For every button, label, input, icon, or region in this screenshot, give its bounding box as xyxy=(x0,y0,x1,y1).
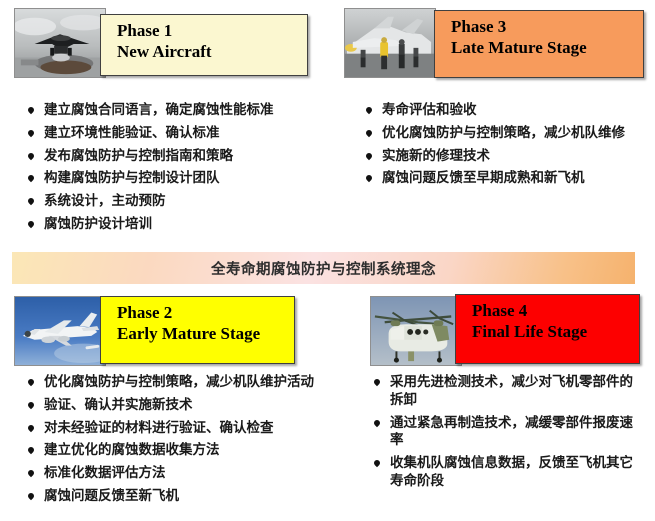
lifecycle-banner-text: 全寿命期腐蚀防护与控制系统理念 xyxy=(211,258,436,279)
list-item: 通过紧急再制造技术，减缓零部件报废速率 xyxy=(368,415,640,451)
phase4-helicopter-image xyxy=(370,296,462,366)
list-item: 优化腐蚀防护与控制策略，减少机队维修 xyxy=(360,125,652,143)
list-item: 建立优化的腐蚀数据收集方法 xyxy=(22,442,338,460)
phase4-quadrant: Phase 4 Final Life Stage 采用先进检测技术，减少对飞机零… xyxy=(340,290,655,521)
phase3-header: Phase 3 Late Mature Stage xyxy=(330,0,655,78)
list-item: 构建腐蚀防护与控制设计团队 xyxy=(22,170,322,188)
phase1-title-line1: Phase 1 xyxy=(117,20,307,41)
phase2-title-line2: Early Mature Stage xyxy=(117,323,294,344)
phase2-quadrant: Phase 2 Early Mature Stage 优化腐蚀防护与控制策略，减… xyxy=(0,290,340,521)
phase2-bullet-list: 优化腐蚀防护与控制策略，减少机队维护活动 验证、确认并实施新技术 对未经验证的材… xyxy=(22,374,338,511)
list-item: 实施新的修理技术 xyxy=(360,148,652,166)
list-item: 对未经验证的材料进行验证、确认检查 xyxy=(22,420,338,438)
lifecycle-corrosion-slide: Phase 1 New Aircraft 建立腐蚀合同语言，确定腐蚀性能标准 建… xyxy=(0,0,655,521)
phase3-title-box: Phase 3 Late Mature Stage xyxy=(434,10,644,78)
phase2-title-box: Phase 2 Early Mature Stage xyxy=(100,296,295,364)
phase1-aircraft-image xyxy=(14,8,106,78)
phase3-title-line2: Late Mature Stage xyxy=(451,37,643,58)
phase1-quadrant: Phase 1 New Aircraft 建立腐蚀合同语言，确定腐蚀性能标准 建… xyxy=(0,0,330,245)
lifecycle-banner: 全寿命期腐蚀防护与控制系统理念 xyxy=(12,252,635,284)
phase4-title-box: Phase 4 Final Life Stage xyxy=(455,294,640,364)
phase3-bullet-list: 寿命评估和验收 优化腐蚀防护与控制策略，减少机队维修 实施新的修理技术 腐蚀问题… xyxy=(360,102,652,193)
phase4-bullet-list: 采用先进检测技术，减少对飞机零部件的拆卸 通过紧急再制造技术，减缓零部件报废速率… xyxy=(368,374,640,496)
list-item: 验证、确认并实施新技术 xyxy=(22,397,338,415)
list-item: 建立腐蚀合同语言，确定腐蚀性能标准 xyxy=(22,102,322,120)
phase3-quadrant: Phase 3 Late Mature Stage 寿命评估和验收 优化腐蚀防护… xyxy=(330,0,655,245)
list-item: 腐蚀防护设计培训 xyxy=(22,216,322,234)
list-item: 系统设计，主动预防 xyxy=(22,193,322,211)
phase3-title-line1: Phase 3 xyxy=(451,16,643,37)
phase2-title-line1: Phase 2 xyxy=(117,302,294,323)
phase1-bullet-list: 建立腐蚀合同语言，确定腐蚀性能标准 建立环境性能验证、确认标准 发布腐蚀防护与控… xyxy=(22,102,322,239)
list-item: 寿命评估和验收 xyxy=(360,102,652,120)
list-item: 收集机队腐蚀信息数据，反馈至飞机其它寿命阶段 xyxy=(368,455,640,491)
phase4-header: Phase 4 Final Life Stage xyxy=(340,290,655,368)
list-item: 优化腐蚀防护与控制策略，减少机队维护活动 xyxy=(22,374,338,392)
phase1-header: Phase 1 New Aircraft xyxy=(0,0,330,78)
phase2-aircraft-image xyxy=(14,296,106,366)
list-item: 腐蚀问题反馈至新飞机 xyxy=(22,488,338,506)
phase1-title-box: Phase 1 New Aircraft xyxy=(100,14,308,76)
phase3-aircraft-image xyxy=(344,8,436,78)
list-item: 发布腐蚀防护与控制指南和策略 xyxy=(22,148,322,166)
phase4-title-line2: Final Life Stage xyxy=(472,321,639,342)
phase2-header: Phase 2 Early Mature Stage xyxy=(0,290,340,368)
list-item: 建立环境性能验证、确认标准 xyxy=(22,125,322,143)
list-item: 腐蚀问题反馈至早期成熟和新飞机 xyxy=(360,170,652,188)
phase1-title-line2: New Aircraft xyxy=(117,41,307,62)
list-item: 采用先进检测技术，减少对飞机零部件的拆卸 xyxy=(368,374,640,410)
list-item: 标准化数据评估方法 xyxy=(22,465,338,483)
phase4-title-line1: Phase 4 xyxy=(472,300,639,321)
